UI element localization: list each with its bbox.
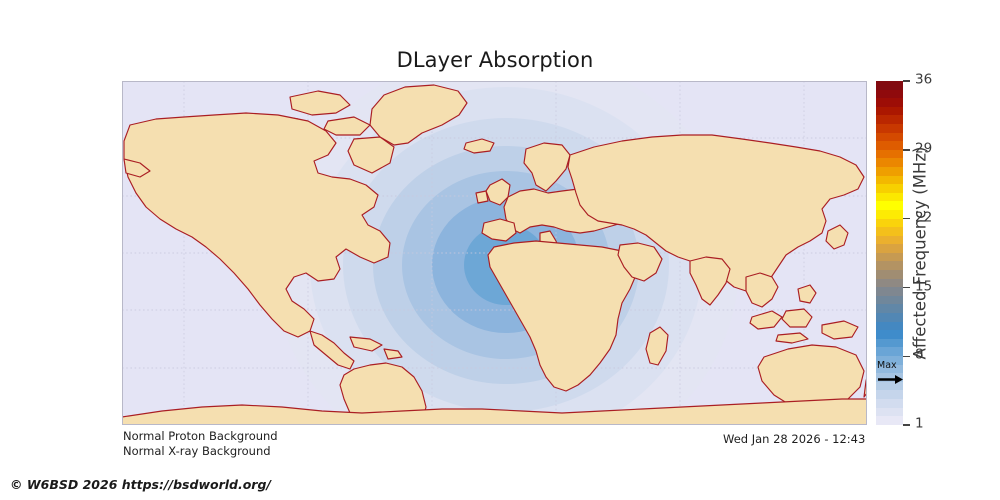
colorbar-band [876,124,903,133]
page-title: DLayer Absorption [0,48,990,72]
colorbar-max-marker: Max [876,362,903,388]
colorbar-band [876,107,903,116]
max-marker-label: Max [877,361,897,371]
colorbar-band [876,261,903,270]
colorbar-band [876,219,903,228]
timestamp: Wed Jan 28 2026 - 12:43 [723,432,865,446]
colorbar-band [876,227,903,236]
colorbar-band [876,141,903,150]
colorbar-band [876,270,903,279]
colorbar-band [876,279,903,288]
colorbar-band [876,167,903,176]
landmass-borneo [782,309,812,327]
background-notes: Normal Proton Background Normal X-ray Ba… [123,429,278,458]
colorbar-band [876,339,903,348]
proton-background-note: Normal Proton Background [123,429,278,444]
colorbar-band [876,98,903,107]
colorbar-band [876,253,903,262]
colorbar-band [876,296,903,305]
colorbar-band [876,313,903,322]
colorbar-band [876,236,903,245]
colorbar-band [876,193,903,202]
copyright-notice: © W6BSD 2026 https://bsdworld.org/ [10,477,271,492]
colorbar-band [876,322,903,331]
colorbar-band [876,90,903,99]
colorbar-band [876,81,903,90]
map-panel[interactable] [122,81,867,425]
colorbar-band [876,115,903,124]
colorbar-band [876,158,903,167]
colorbar-axis-label: Affected Frequency (MHz) [905,81,935,425]
colorbar-band [876,176,903,185]
colorbar-band [876,330,903,339]
colorbar-band [876,133,903,142]
colorbar-band [876,408,903,417]
colorbar-band [876,150,903,159]
colorbar-band [876,201,903,210]
colorbar-band [876,287,903,296]
colorbar-band [876,399,903,408]
colorbar-band [876,416,903,425]
colorbar-band [876,210,903,219]
colorbar-band [876,347,903,356]
colorbar[interactable]: Max 1815222936 [876,81,903,425]
max-arrow-icon [877,374,903,385]
figure-root: DLayer Absorption [0,0,1000,500]
xray-background-note: Normal X-ray Background [123,444,278,459]
colorbar-band [876,304,903,313]
colorbar-axis-label-text: Affected Frequency (MHz) [911,147,930,360]
colorbar-band [876,184,903,193]
landmass-ireland [476,191,488,203]
world-map [122,81,867,425]
colorbar-band [876,244,903,253]
colorbar-band [876,390,903,399]
